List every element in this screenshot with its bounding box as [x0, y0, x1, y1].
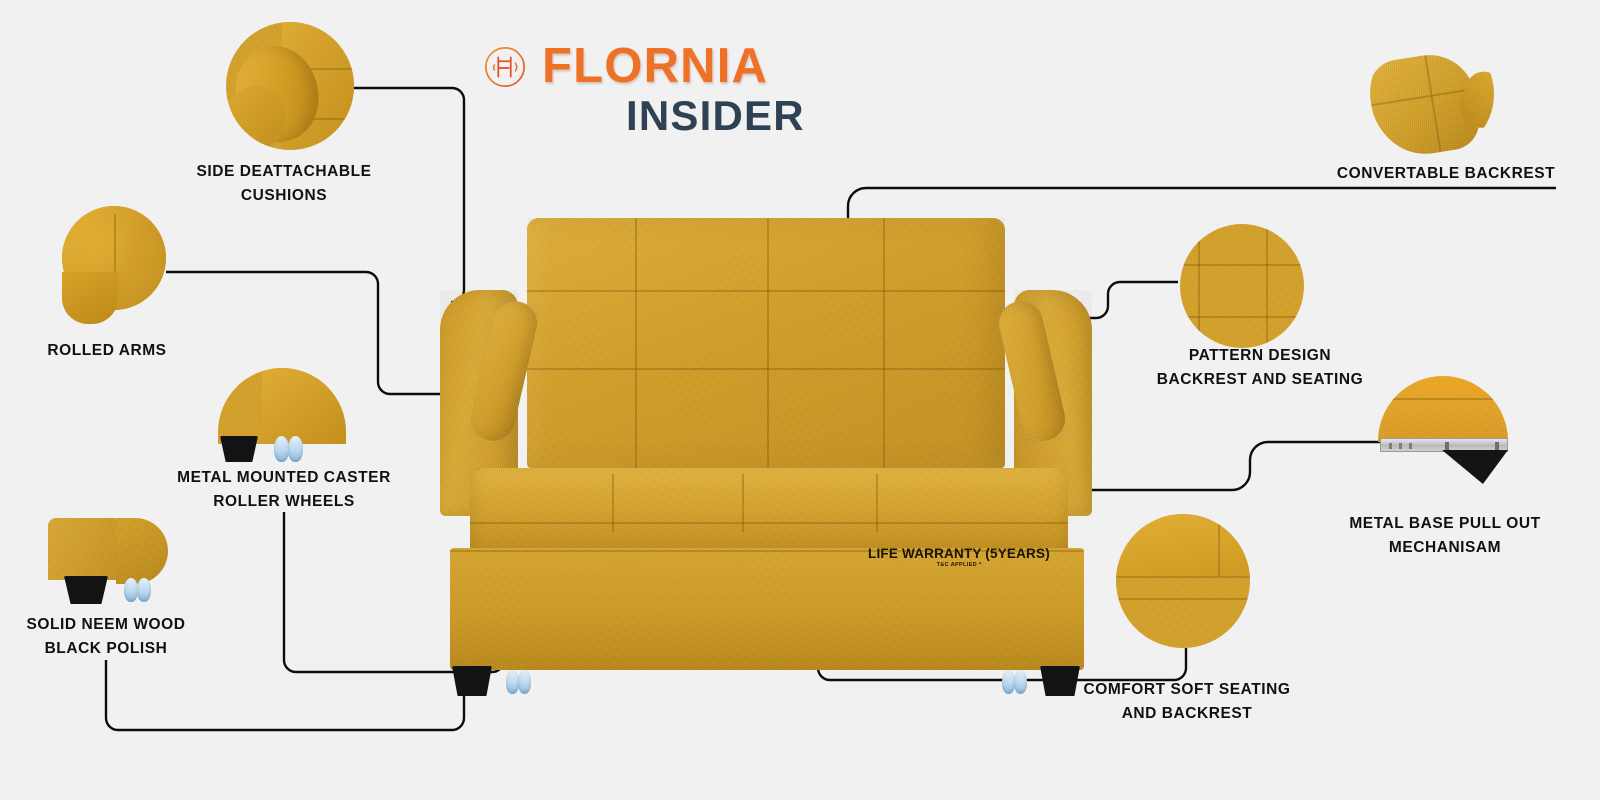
label-rolled-arms: ROLLED ARMS	[14, 339, 200, 363]
thumb-pattern-design[interactable]	[1180, 224, 1304, 348]
thumb-caster-wheel-a	[274, 436, 289, 462]
warranty-badge: LIFE WARRANTY (5YEARS) T&C APPLIED *	[868, 546, 1050, 568]
label-pattern-design: PATTERN DESIGN BACKREST AND SEATING	[1094, 344, 1426, 392]
thumb-caster-foot	[220, 436, 258, 462]
metal-base-shadow-wedge	[1442, 450, 1508, 484]
thumb-neem-wood-foot	[64, 576, 108, 604]
warranty-text: LIFE WARRANTY (5YEARS)	[868, 546, 1050, 561]
thumb-comfort-soft-seating[interactable]	[1116, 514, 1250, 648]
fabric-grain	[527, 218, 1005, 468]
metal-rail-bar	[1380, 438, 1508, 452]
label-convertable-backrest: CONVERTABLE BACKREST	[1296, 162, 1596, 186]
flornia-chair-monogram-icon	[482, 44, 528, 90]
sofa-foot-left	[452, 666, 492, 696]
infographic-canvas: FLORNIA INSIDER	[0, 0, 1600, 800]
thumb-side-deattachable-cushions[interactable]	[226, 22, 354, 150]
label-side-deattachable-cushions: SIDE DEATTACHABLE CUSHIONS	[134, 160, 434, 208]
main-product-sofa: LIFE WARRANTY (5YEARS) T&C APPLIED *	[432, 218, 1100, 608]
thumb-solid-neem-wood[interactable]	[48, 518, 168, 604]
label-solid-neem-wood: SOLID NEEM WOOD BLACK POLISH	[0, 613, 212, 661]
sofa-caster-wheel-left-b	[518, 670, 531, 694]
warranty-subtext: T&C APPLIED *	[868, 562, 1050, 568]
thumb-neem-caster-a	[124, 578, 138, 602]
label-caster-roller-wheels: METAL MOUNTED CASTER ROLLER WHEELS	[134, 466, 434, 514]
thumb-metal-base-pullout[interactable]	[1378, 376, 1508, 484]
thumb-convertable-backrest[interactable]	[1370, 32, 1494, 156]
label-comfort-soft-seating: COMFORT SOFT SEATING AND BACKREST	[1022, 678, 1352, 726]
brand-lockup: FLORNIA INSIDER	[482, 42, 805, 137]
thumb-caster-wheel-b	[288, 436, 303, 462]
label-metal-base-pullout: METAL BASE PULL OUT MECHANISAM	[1300, 512, 1590, 560]
brand-name: FLORNIA	[542, 42, 768, 91]
thumb-neem-caster-b	[137, 578, 151, 602]
thumb-caster-roller-wheels[interactable]	[218, 368, 346, 454]
brand-subtitle: INSIDER	[626, 95, 805, 137]
sofa-backrest	[527, 218, 1005, 468]
thumb-rolled-arms-tail	[62, 272, 118, 324]
